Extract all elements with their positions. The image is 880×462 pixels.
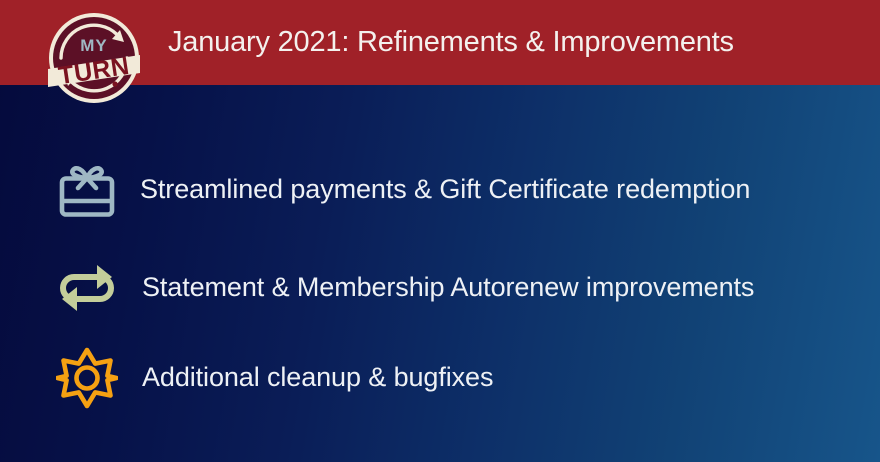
bullet-label-autorenew: Statement & Membership Autorenew improve… — [140, 272, 754, 305]
gift-icon-wrapper — [48, 154, 140, 226]
autorenew-icon-wrapper — [48, 252, 140, 324]
svg-text:MY: MY — [80, 36, 108, 55]
slide-root: January 2021: Refinements & Improvements… — [0, 0, 880, 462]
bullet-label-gift: Streamlined payments & Gift Certificate … — [140, 174, 750, 207]
my-turn-logo-icon: MY TURN — [47, 11, 141, 105]
sunburst-icon-wrapper — [48, 342, 140, 414]
bullet-row-gift: Streamlined payments & Gift Certificate … — [48, 154, 848, 226]
my-turn-logo: MY TURN — [47, 11, 141, 105]
sunburst-icon — [56, 347, 118, 409]
gift-icon — [56, 161, 118, 219]
page-title: January 2021: Refinements & Improvements — [168, 0, 734, 85]
bullet-label-cleanup: Additional cleanup & bugfixes — [140, 362, 493, 395]
bullet-row-cleanup: Additional cleanup & bugfixes — [48, 342, 848, 414]
autorenew-icon — [56, 260, 118, 316]
bullet-row-autorenew: Statement & Membership Autorenew improve… — [48, 252, 848, 324]
